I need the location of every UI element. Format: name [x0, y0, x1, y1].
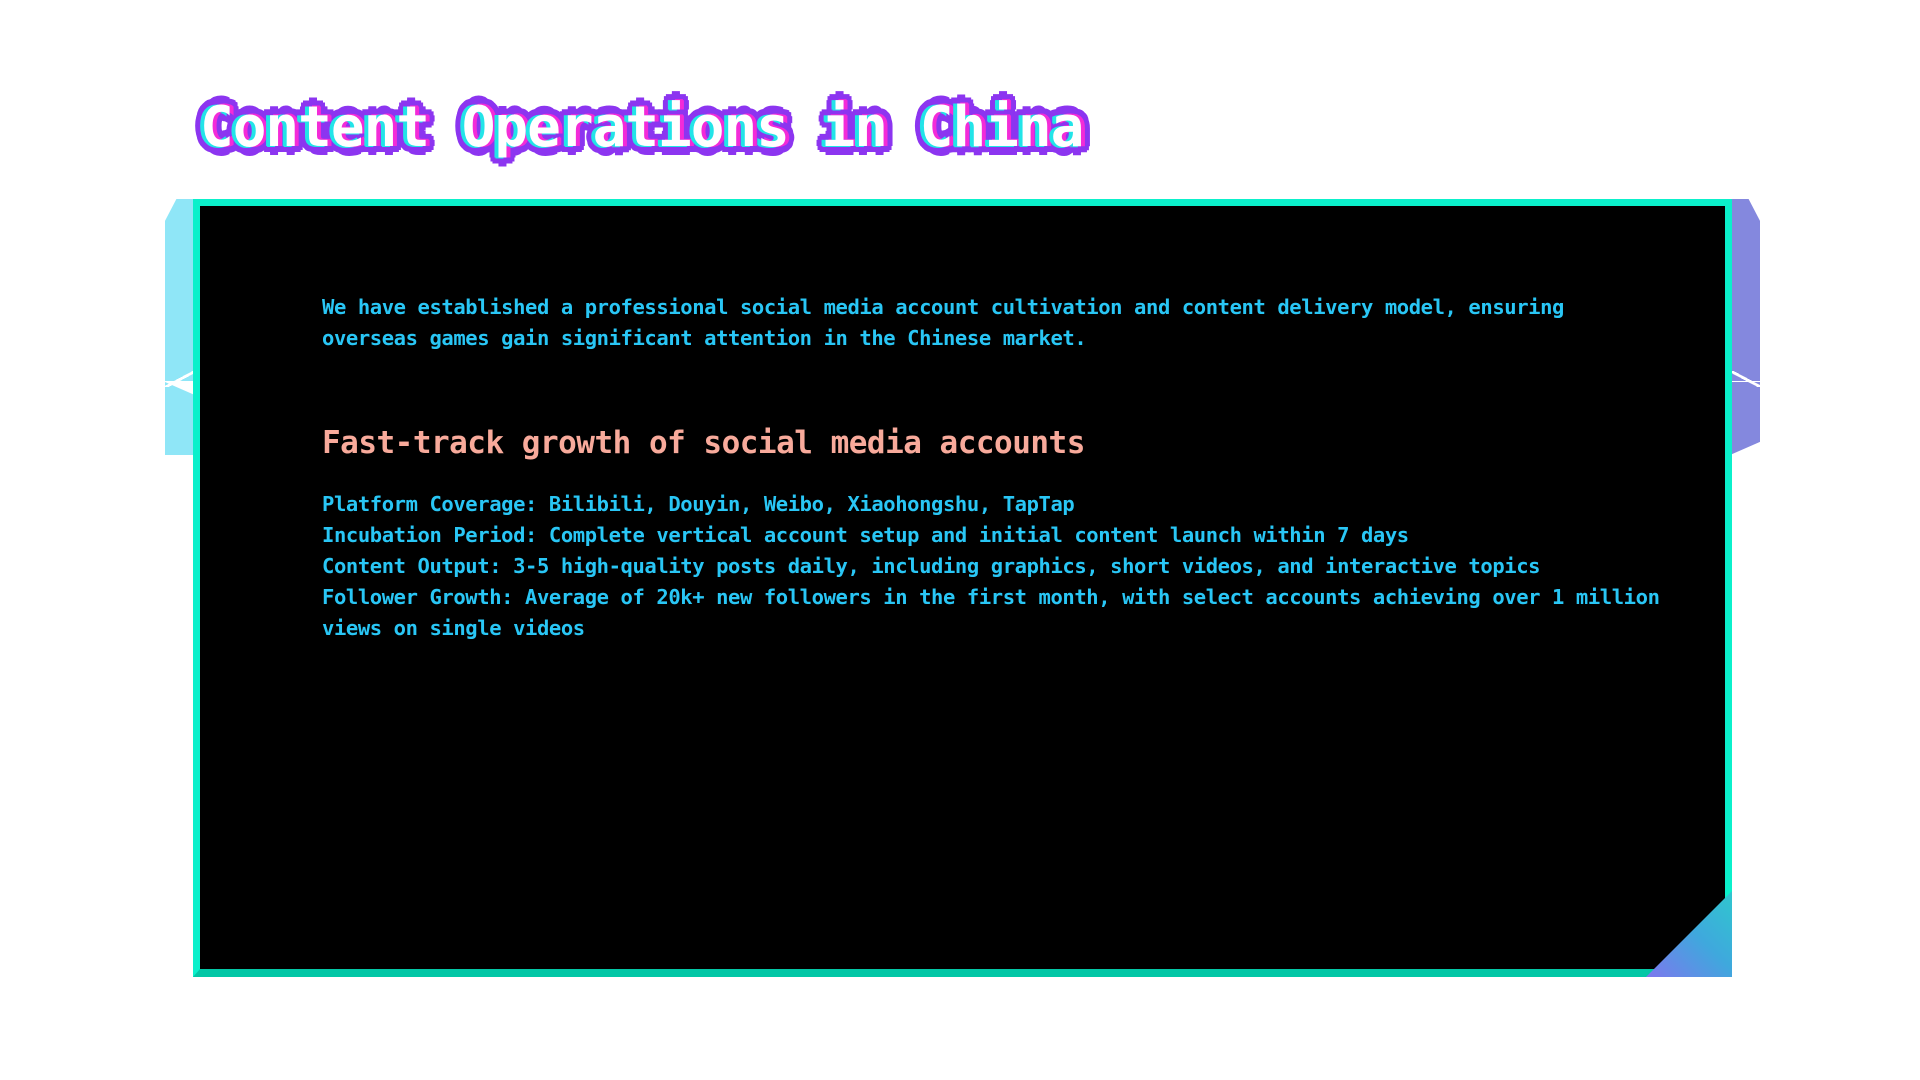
list-item: Follower Growth: Average of 20k+ new fol… [322, 582, 1665, 644]
title-stack: Content Operations in China Content Oper… [200, 92, 1083, 164]
card-content: We have established a professional socia… [322, 271, 1665, 644]
list-item: Incubation Period: Complete vertical acc… [322, 520, 1665, 551]
list-item: Platform Coverage: Bilibili, Douyin, Wei… [322, 489, 1665, 520]
left-flange-seam [165, 371, 195, 387]
intro-paragraph: We have established a professional socia… [322, 292, 1637, 354]
card-panel: We have established a professional socia… [193, 199, 1732, 977]
right-flange-decoration-lower [1730, 382, 1760, 455]
right-flange-decoration-upper [1730, 199, 1760, 381]
list-item: Content Output: 3-5 high-quality posts d… [322, 551, 1665, 582]
left-flange-decoration-lower [165, 382, 195, 455]
section-heading: Fast-track growth of social media accoun… [322, 422, 1665, 464]
page-title: Content Operations in China Content Oper… [200, 92, 1083, 164]
bullet-list: Platform Coverage: Bilibili, Douyin, Wei… [322, 489, 1665, 644]
right-flange-seam [1730, 371, 1760, 387]
left-flange-decoration-upper [165, 199, 195, 381]
content-card: We have established a professional socia… [193, 199, 1732, 977]
page-title-text: Content Operations in China [200, 92, 1083, 164]
